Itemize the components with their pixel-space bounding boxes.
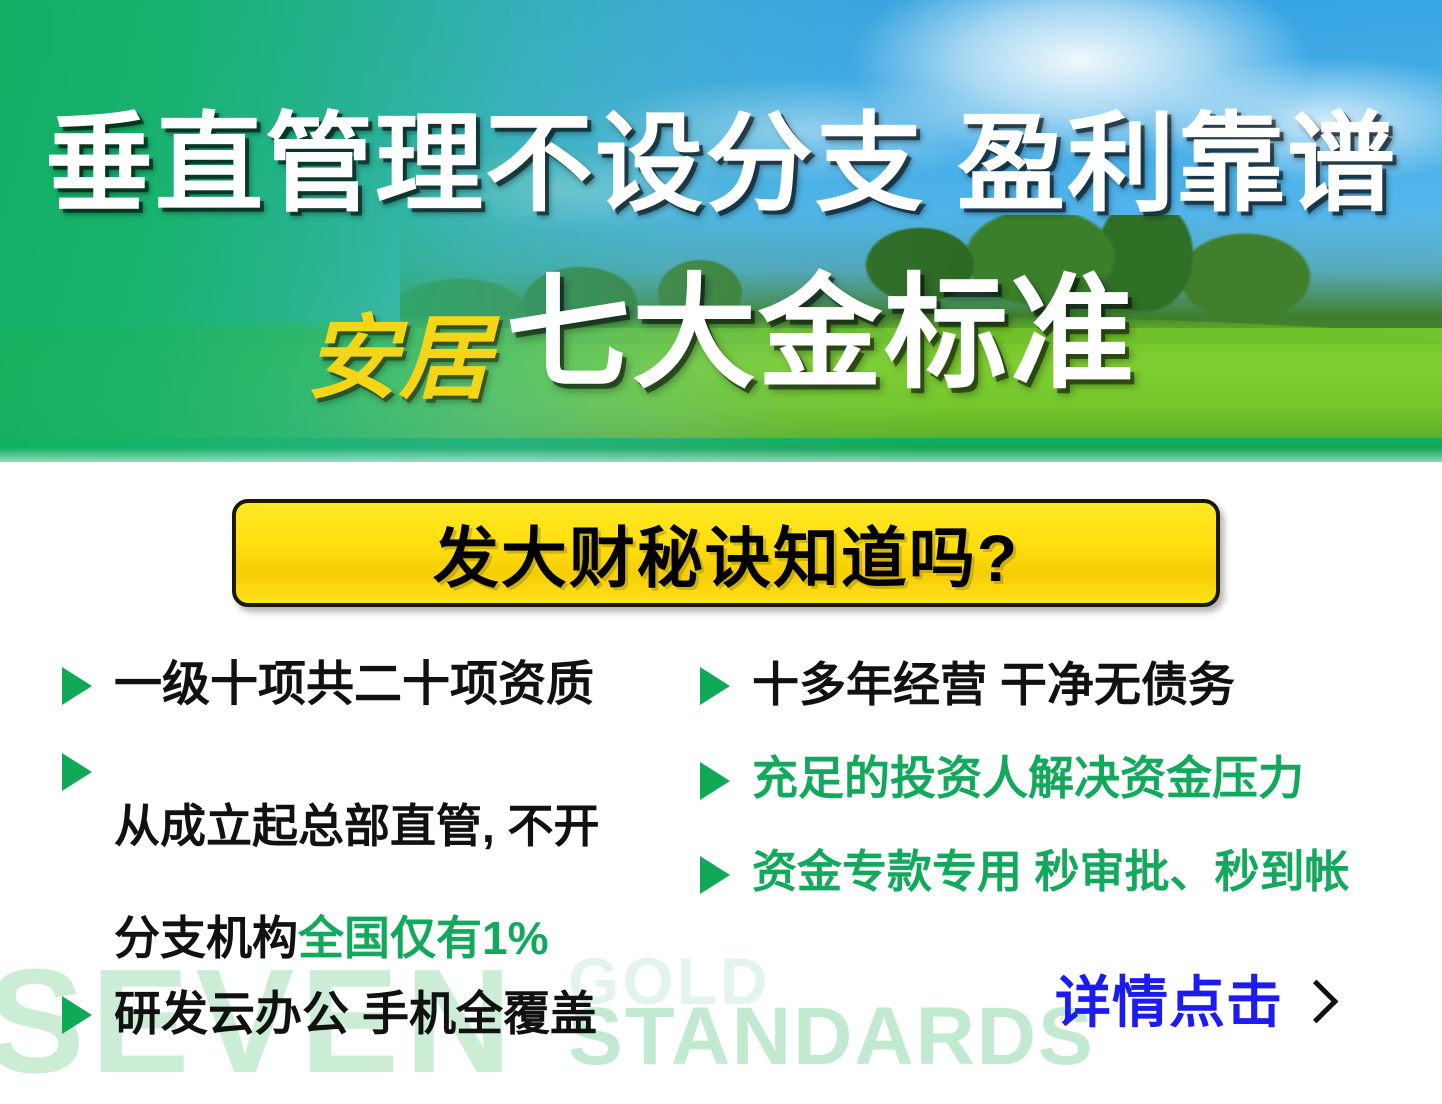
triangle-bullet-icon bbox=[62, 753, 92, 791]
detail-link[interactable]: 详情点击 bbox=[1055, 975, 1332, 1031]
hero-headline-primary: 垂直管理不设分支 盈利靠谱 bbox=[0, 110, 1442, 218]
feature-item-label: 十多年经营 干净无债务 bbox=[752, 655, 1235, 714]
feature-item-label: 一级十项共二十项资质 bbox=[114, 655, 594, 715]
feature-item-label: 从成立起总部直管, 不开 分支机构全国仅有1% bbox=[114, 741, 600, 965]
feature-line-1: 从成立起总部直管, 不开 bbox=[114, 800, 600, 852]
brand-mark-anju: 安居 bbox=[306, 313, 492, 405]
feature-item: 资金专款专用 秒审批、秒到帐 bbox=[700, 844, 1430, 901]
cta-banner-label: 发大财秘诀知道吗? bbox=[433, 505, 1019, 601]
feature-column-right: 十多年经营 干净无债务 充足的投资人解决资金压力 资金专款专用 秒审批、秒到帐 bbox=[700, 655, 1430, 937]
feature-item: 研发云办公 手机全覆盖 bbox=[62, 984, 682, 1043]
hero-banner: 垂直管理不设分支 盈利靠谱 安居七大金标准 bbox=[0, 0, 1442, 462]
feature-list-section: 一级十项共二十项资质 从成立起总部直管, 不开 分支机构全国仅有1% 研发云办公… bbox=[0, 655, 1442, 985]
hero-headline-secondary-row: 安居七大金标准 bbox=[0, 272, 1442, 405]
feature-item: 从成立起总部直管, 不开 分支机构全国仅有1% bbox=[62, 741, 682, 965]
feature-item-label: 研发云办公 手机全覆盖 bbox=[114, 984, 597, 1043]
feature-item-label: 资金专款专用 秒审批、秒到帐 bbox=[752, 844, 1350, 901]
triangle-bullet-icon bbox=[700, 762, 730, 800]
feature-column-left: 一级十项共二十项资质 从成立起总部直管, 不开 分支机构全国仅有1% 研发云办公… bbox=[62, 655, 682, 1069]
triangle-bullet-icon bbox=[700, 667, 730, 705]
triangle-bullet-icon bbox=[700, 856, 730, 894]
triangle-bullet-icon bbox=[62, 667, 92, 705]
feature-line-2-prefix: 分支机构 bbox=[114, 912, 298, 964]
feature-line-2-highlight: 全国仅有1% bbox=[298, 912, 548, 964]
feature-item: 十多年经营 干净无债务 bbox=[700, 655, 1430, 714]
chevron-right-icon bbox=[1295, 979, 1339, 1023]
cta-banner-button[interactable]: 发大财秘诀知道吗? bbox=[232, 499, 1220, 607]
feature-item: 充足的投资人解决资金压力 bbox=[700, 750, 1430, 808]
feature-item: 一级十项共二十项资质 bbox=[62, 655, 682, 715]
triangle-bullet-icon bbox=[62, 996, 92, 1034]
hero-headline-secondary: 七大金标准 bbox=[506, 272, 1136, 396]
feature-item-label: 充足的投资人解决资金压力 bbox=[752, 750, 1304, 808]
detail-link-label: 详情点击 bbox=[1055, 975, 1283, 1031]
